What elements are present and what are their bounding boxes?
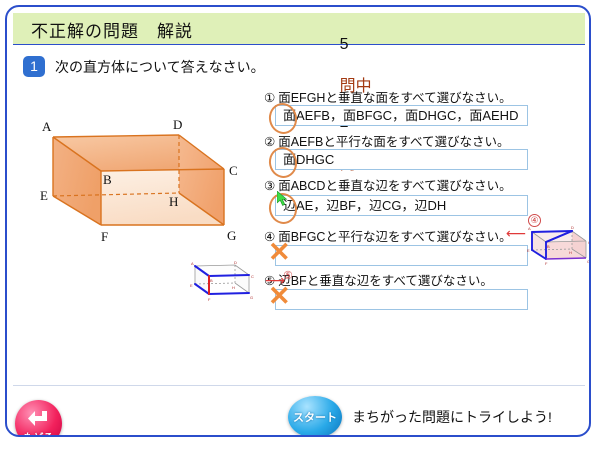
- item-2-number: ②: [264, 135, 275, 149]
- header-bar: 不正解の問題 解説 5 問中 2 問 まちがい: [13, 13, 585, 45]
- back-button[interactable]: もどる: [15, 400, 62, 437]
- start-button[interactable]: スタート: [288, 396, 342, 437]
- svg-text:F: F: [545, 261, 548, 266]
- item-1-number: ①: [264, 91, 275, 105]
- item-3-number: ③: [264, 179, 275, 193]
- vertex-label-D: D: [173, 117, 182, 132]
- item-5-text: ⑤辺BFと垂直な辺をすべて選びなさい。: [264, 270, 493, 289]
- svg-text:H: H: [232, 285, 235, 290]
- svg-text:E: E: [190, 283, 193, 288]
- svg-text:E: E: [527, 248, 530, 253]
- item-5-label: 辺BFと垂直な辺をすべて選びなさい。: [278, 274, 493, 288]
- item-1-text: ①面EFGHと垂直な面をすべて選びなさい。: [264, 87, 512, 106]
- svg-text:B: B: [210, 278, 213, 283]
- pointer-arrow-to-thumb-4: ⟵: [506, 228, 526, 238]
- mark-wrong-4: ✕: [268, 242, 290, 264]
- question-number-badge: 1: [23, 56, 45, 77]
- svg-text:D: D: [571, 225, 574, 230]
- item-3-text: ③面ABCDと垂直な辺をすべて選びなさい。: [264, 175, 512, 194]
- svg-text:D: D: [234, 260, 237, 265]
- app-frame: 不正解の問題 解説 5 問中 2 問 まちがい 1 次の直方体について答えなさい…: [5, 5, 591, 437]
- vertex-label-H: H: [169, 194, 178, 209]
- mouse-cursor-icon: [277, 191, 289, 207]
- answer-text-3: 辺AE，辺BF，辺CG，辺DH: [283, 195, 446, 216]
- back-arrow-icon: [26, 407, 51, 429]
- svg-text:C: C: [251, 274, 254, 279]
- svg-text:F: F: [208, 297, 211, 302]
- question-prompt: 次の直方体について答えなさい。: [55, 57, 265, 77]
- score-total: 5: [340, 36, 349, 53]
- answer-box-4[interactable]: [275, 245, 528, 266]
- back-button-label: もどる: [15, 429, 62, 437]
- vertex-label-A: A: [42, 119, 52, 134]
- item-3-label: 面ABCDと垂直な辺をすべて選びなさい。: [278, 179, 511, 193]
- start-caption: まちがった問題にトライしよう!: [352, 407, 552, 427]
- vertex-label-C: C: [229, 163, 238, 178]
- svg-text:G: G: [250, 295, 253, 300]
- answer-text-1: 面AEFB，面BFGC，面DHGC，面AEHD: [283, 105, 518, 126]
- svg-text:H: H: [569, 250, 572, 255]
- item-4-label: 面BFGCと平行な辺をすべて選びなさい。: [278, 230, 511, 244]
- item-2-text: ②面AEFBと平行な面をすべて選びなさい。: [264, 131, 510, 150]
- vertex-label-B: B: [103, 172, 112, 187]
- vertex-label-G: G: [227, 228, 236, 243]
- svg-text:A: A: [191, 261, 194, 266]
- footer-divider: [13, 385, 585, 386]
- item-4-text: ④面BFGCと平行な辺をすべて選びなさい。: [264, 226, 512, 245]
- svg-text:A: A: [528, 226, 531, 231]
- thumb-5-number: ⑤: [283, 269, 293, 282]
- item-1-label: 面EFGHと垂直な面をすべて選びなさい。: [278, 91, 511, 105]
- thumbnail-figure-5[interactable]: ABC DEF GH: [189, 260, 263, 304]
- svg-text:B: B: [547, 244, 550, 249]
- page-title: 不正解の問題 解説: [31, 17, 193, 42]
- item-2-label: 面AEFBと平行な面をすべて選びなさい。: [278, 135, 509, 149]
- vertex-label-F: F: [101, 229, 108, 244]
- vertex-label-E: E: [40, 188, 48, 203]
- svg-text:G: G: [587, 259, 590, 264]
- start-button-label: スタート: [288, 409, 342, 425]
- svg-text:C: C: [588, 240, 591, 245]
- mark-wrong-5: ✕: [268, 286, 290, 308]
- answer-box-5[interactable]: [275, 289, 528, 310]
- thumbnail-figure-4[interactable]: ABC DEF GH: [526, 223, 591, 267]
- rectangular-prism-figure: A B C D E F G H: [39, 107, 259, 257]
